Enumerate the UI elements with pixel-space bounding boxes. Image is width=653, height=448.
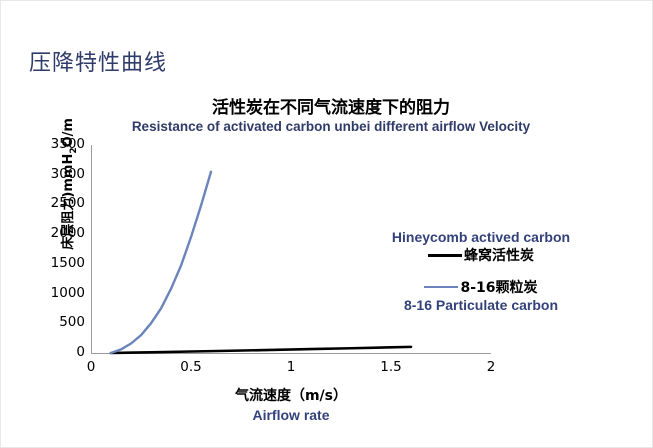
series-line-particulate [111, 172, 211, 353]
y-tick-label: 0 [33, 344, 85, 360]
y-tick-label: 3000 [33, 166, 85, 182]
chart-title: 活性炭在不同气流速度下的阻力 [121, 93, 541, 118]
y-tick-label: 1500 [33, 255, 85, 271]
slide-heading: 压降特性曲线 [29, 45, 167, 77]
x-tick-label: 2 [471, 359, 511, 375]
x-axis-label-en: Airflow rate [91, 407, 491, 423]
x-axis-label-cn: 气流速度（m/s） [91, 385, 491, 405]
chart-legend: Hineycomb actived carbon 蜂窝活性炭 8-16颗粒炭 8… [331, 229, 631, 313]
y-tick-label: 500 [33, 314, 85, 330]
series-line-honeycomb [111, 347, 411, 353]
slide-canvas: 压降特性曲线 活性炭在不同气流速度下的阻力 Resistance of acti… [0, 0, 653, 448]
chart-container: 活性炭在不同气流速度下的阻力 Resistance of activated c… [21, 89, 641, 429]
legend-spacer [331, 265, 631, 277]
y-tick-label: 2000 [33, 225, 85, 241]
x-tick-label: 1.5 [371, 359, 411, 375]
y-tick-label: 3500 [33, 136, 85, 152]
legend-swatch-blue-icon [424, 286, 458, 289]
legend-item-honeycomb[interactable]: 蜂窝活性炭 [331, 245, 631, 265]
y-tick-label: 2500 [33, 195, 85, 211]
y-axis-label: 床层阻力)mmH2O/m [57, 99, 79, 269]
legend-swatch-black-icon [428, 254, 462, 257]
legend-label-particulate-en: 8-16 Particulate carbon [331, 297, 631, 313]
legend-label-honeycomb-cn: 蜂窝活性炭 [464, 245, 534, 265]
x-tick-label: 1 [271, 359, 311, 375]
legend-item-particulate[interactable]: 8-16颗粒炭 [331, 277, 631, 297]
legend-label-particulate-cn: 8-16颗粒炭 [460, 277, 537, 297]
chart-subtitle: Resistance of activated carbon unbei dif… [81, 119, 581, 134]
y-tick-label: 1000 [33, 285, 85, 301]
x-tick-label: 0.5 [171, 359, 211, 375]
x-tick-label: 0 [71, 359, 111, 375]
legend-label-honeycomb-en: Hineycomb actived carbon [331, 229, 631, 245]
